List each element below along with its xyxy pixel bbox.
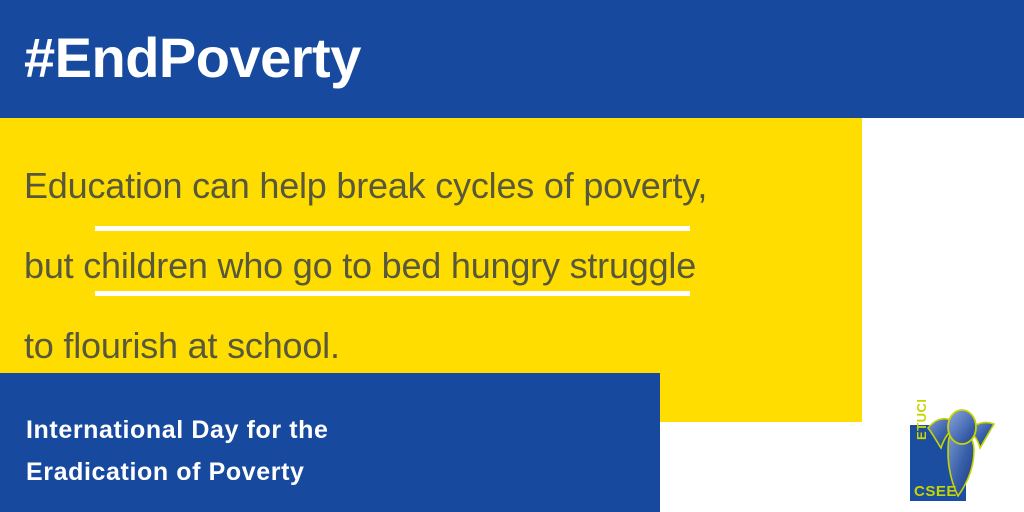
quote-rule-top [95,226,690,231]
etuce-csee-logo: ETUCE CSEE [898,400,1002,504]
caption-line-2: Eradication of Poverty [26,451,329,493]
header-band: #EndPoverty [0,0,1024,118]
poster-canvas: #EndPoverty Education can help break cyc… [0,0,1024,512]
quote-text-block: Education can help break cycles of pover… [24,146,862,386]
quote-rule-bottom [95,291,690,296]
hashtag-title: #EndPoverty [24,26,361,90]
logo-text-csee: CSEE [914,483,957,500]
etuce-csee-logo-icon: ETUCE CSEE [898,400,1002,504]
caption-box: International Day for the Eradication of… [0,373,660,512]
logo-text-etuce: ETUCE [914,400,929,440]
caption-text-block: International Day for the Eradication of… [26,409,329,493]
quote-line-1: Education can help break cycles of pover… [24,146,862,226]
caption-line-1: International Day for the [26,409,329,451]
